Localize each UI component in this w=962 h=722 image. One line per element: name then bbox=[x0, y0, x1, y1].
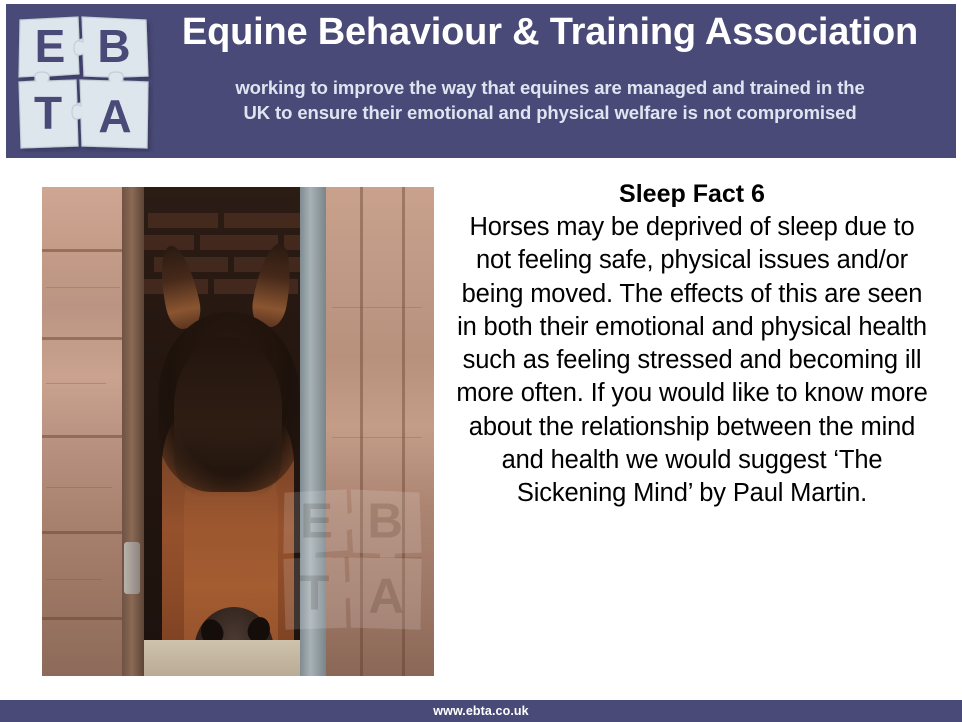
header-text-block: Equine Behaviour & Training Association … bbox=[158, 4, 956, 158]
footer-bar: www.ebta.co.uk bbox=[0, 700, 962, 722]
logo-letter-e: E bbox=[35, 20, 66, 72]
logo-container: E B T A bbox=[6, 4, 158, 158]
tagline-line-1: working to improve the way that equines … bbox=[158, 76, 942, 101]
horse-forelock bbox=[174, 337, 282, 497]
stable-door-edge bbox=[122, 187, 144, 676]
organisation-tagline: working to improve the way that equines … bbox=[158, 76, 942, 126]
ebta-puzzle-logo-icon: E B T A bbox=[14, 12, 154, 152]
svg-text:B: B bbox=[367, 494, 403, 549]
horse-stable-photo: EB TA bbox=[42, 187, 434, 676]
svg-text:E: E bbox=[300, 494, 333, 549]
organisation-title: Equine Behaviour & Training Association bbox=[158, 12, 942, 54]
logo-letter-b: B bbox=[97, 20, 130, 72]
fact-body-text: Horses may be deprived of sleep due to n… bbox=[456, 211, 928, 510]
fact-title: Sleep Fact 6 bbox=[456, 178, 928, 210]
fact-text-column: Sleep Fact 6 Horses may be deprived of s… bbox=[456, 178, 928, 510]
header-banner: E B T A Equine Behaviour & Training Asso… bbox=[6, 4, 956, 158]
tagline-line-2: UK to ensure their emotional and physica… bbox=[158, 101, 942, 126]
svg-text:T: T bbox=[299, 565, 329, 620]
content-area: EB TA Sleep Fact 6 Horses may be deprive… bbox=[0, 160, 962, 697]
stable-door-latch bbox=[124, 542, 140, 594]
logo-letter-t: T bbox=[34, 87, 62, 139]
ebta-watermark-icon: EB TA bbox=[278, 484, 428, 634]
website-url[interactable]: www.ebta.co.uk bbox=[433, 704, 528, 718]
svg-text:A: A bbox=[368, 569, 404, 624]
slide: E B T A Equine Behaviour & Training Asso… bbox=[0, 0, 962, 722]
logo-letter-a: A bbox=[98, 90, 131, 142]
